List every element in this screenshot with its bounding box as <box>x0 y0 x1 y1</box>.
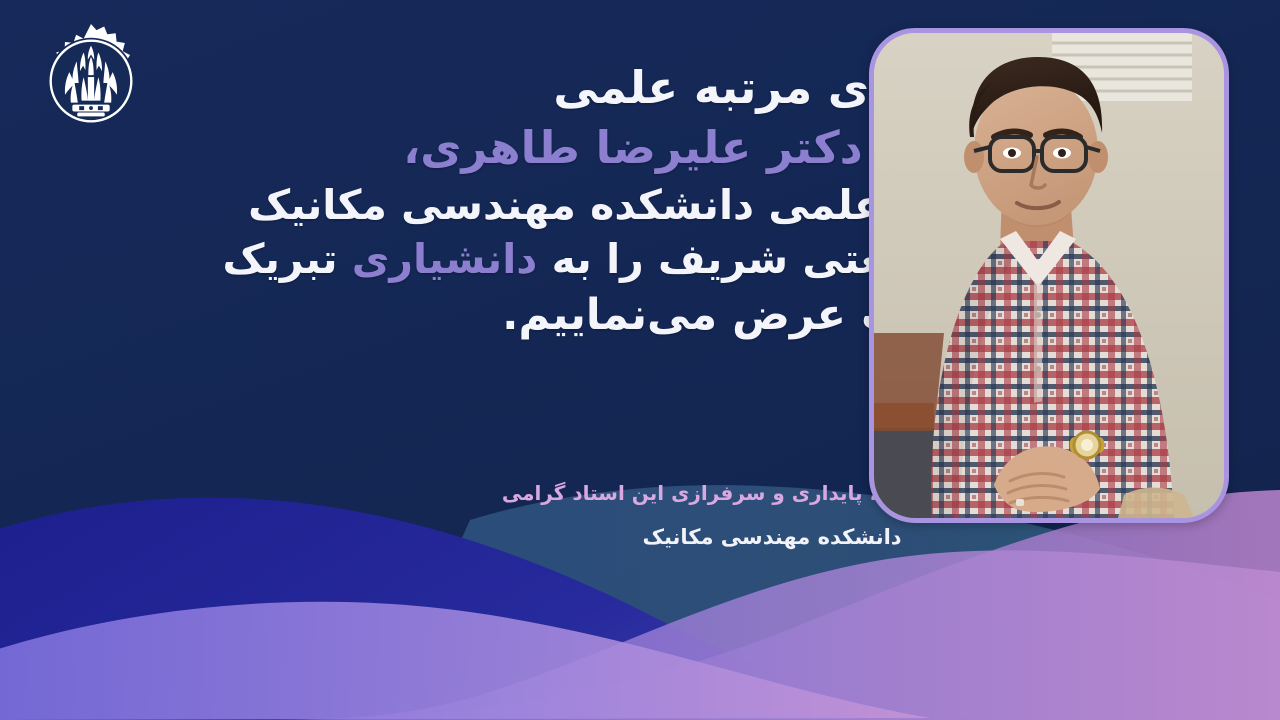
congratulation-banner: ارتقای مرتبه علمی جناب آقای دکتر علیرضا … <box>0 0 1280 720</box>
portrait-frame <box>869 28 1229 523</box>
professor-name: دکتر علیرضا طاهری، <box>403 121 863 174</box>
portrait-photo <box>874 33 1224 518</box>
academic-rank: دانشیاری <box>352 235 538 283</box>
footer-department-line: دانشکده مهندسی مکانیک <box>442 522 1102 554</box>
headline-line-4-suffix: تبریک <box>222 235 351 283</box>
sharif-university-logo <box>32 22 150 140</box>
